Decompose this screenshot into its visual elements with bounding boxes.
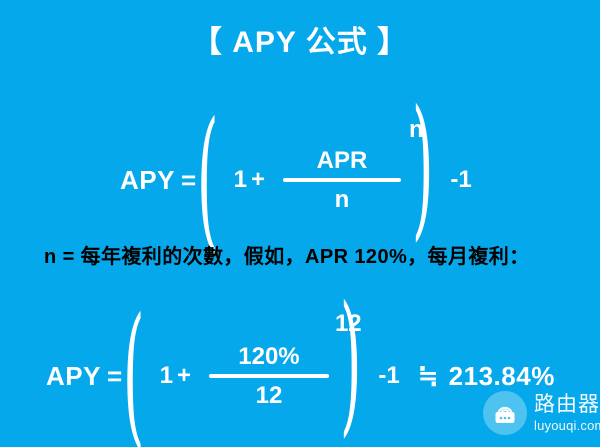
formula1-equals: = — [181, 165, 196, 196]
router-icon — [483, 391, 527, 435]
formula2-numerator: 120% — [238, 344, 299, 369]
formula1-lhs: APY — [120, 165, 175, 196]
formula2-denominator: 12 — [256, 383, 283, 408]
watermark-text: 路由器 luyouqi.com — [534, 394, 600, 432]
formula2-result: 213.84% — [449, 361, 555, 392]
formula1-fraction-bar — [283, 178, 401, 182]
watermark-title: 路由器 — [534, 394, 600, 415]
formula1-plus: + — [251, 166, 265, 194]
formula1-denominator: n — [335, 187, 350, 212]
formula2-approx-sign: ≒ — [418, 361, 439, 391]
formula2-exponent: 12 — [335, 312, 362, 336]
formula2-fraction: 120% 12 — [209, 344, 329, 408]
formula2-plus: + — [177, 362, 191, 390]
formula-apy-general: APY = ( 1 + APR n ) n -1 — [120, 132, 472, 228]
formula2-fraction-bar — [209, 374, 329, 378]
formula2-paren-right-group: ) 12 — [335, 364, 362, 389]
slide-canvas: 【 APY 公式 】 APY = ( 1 + APR n ) n -1 n = … — [0, 0, 600, 447]
formula1-one: 1 — [234, 166, 247, 194]
formula1-paren-right-group: ) n — [407, 168, 434, 193]
watermark-domain: luyouqi.com — [534, 419, 600, 432]
formula2-equals: = — [107, 361, 122, 392]
formula2-minus-one: -1 — [378, 362, 399, 390]
formula1-exponent: n — [409, 118, 424, 142]
formula2-lhs: APY — [46, 361, 101, 392]
formula2-one: 1 — [160, 362, 173, 390]
page-title: 【 APY 公式 】 — [0, 23, 600, 63]
formula1-fraction: APR n — [283, 148, 401, 212]
formula1-numerator: APR — [317, 148, 368, 173]
formula1-minus-one: -1 — [450, 166, 471, 194]
watermark: 路由器 luyouqi.com — [483, 391, 600, 435]
formula-apy-example: APY = ( 1 + 120% 12 ) 12 -1 ≒ 213.84% — [46, 328, 555, 424]
note-text: n = 每年複利的次數，假如，APR 120%，每月複利： — [44, 243, 530, 271]
